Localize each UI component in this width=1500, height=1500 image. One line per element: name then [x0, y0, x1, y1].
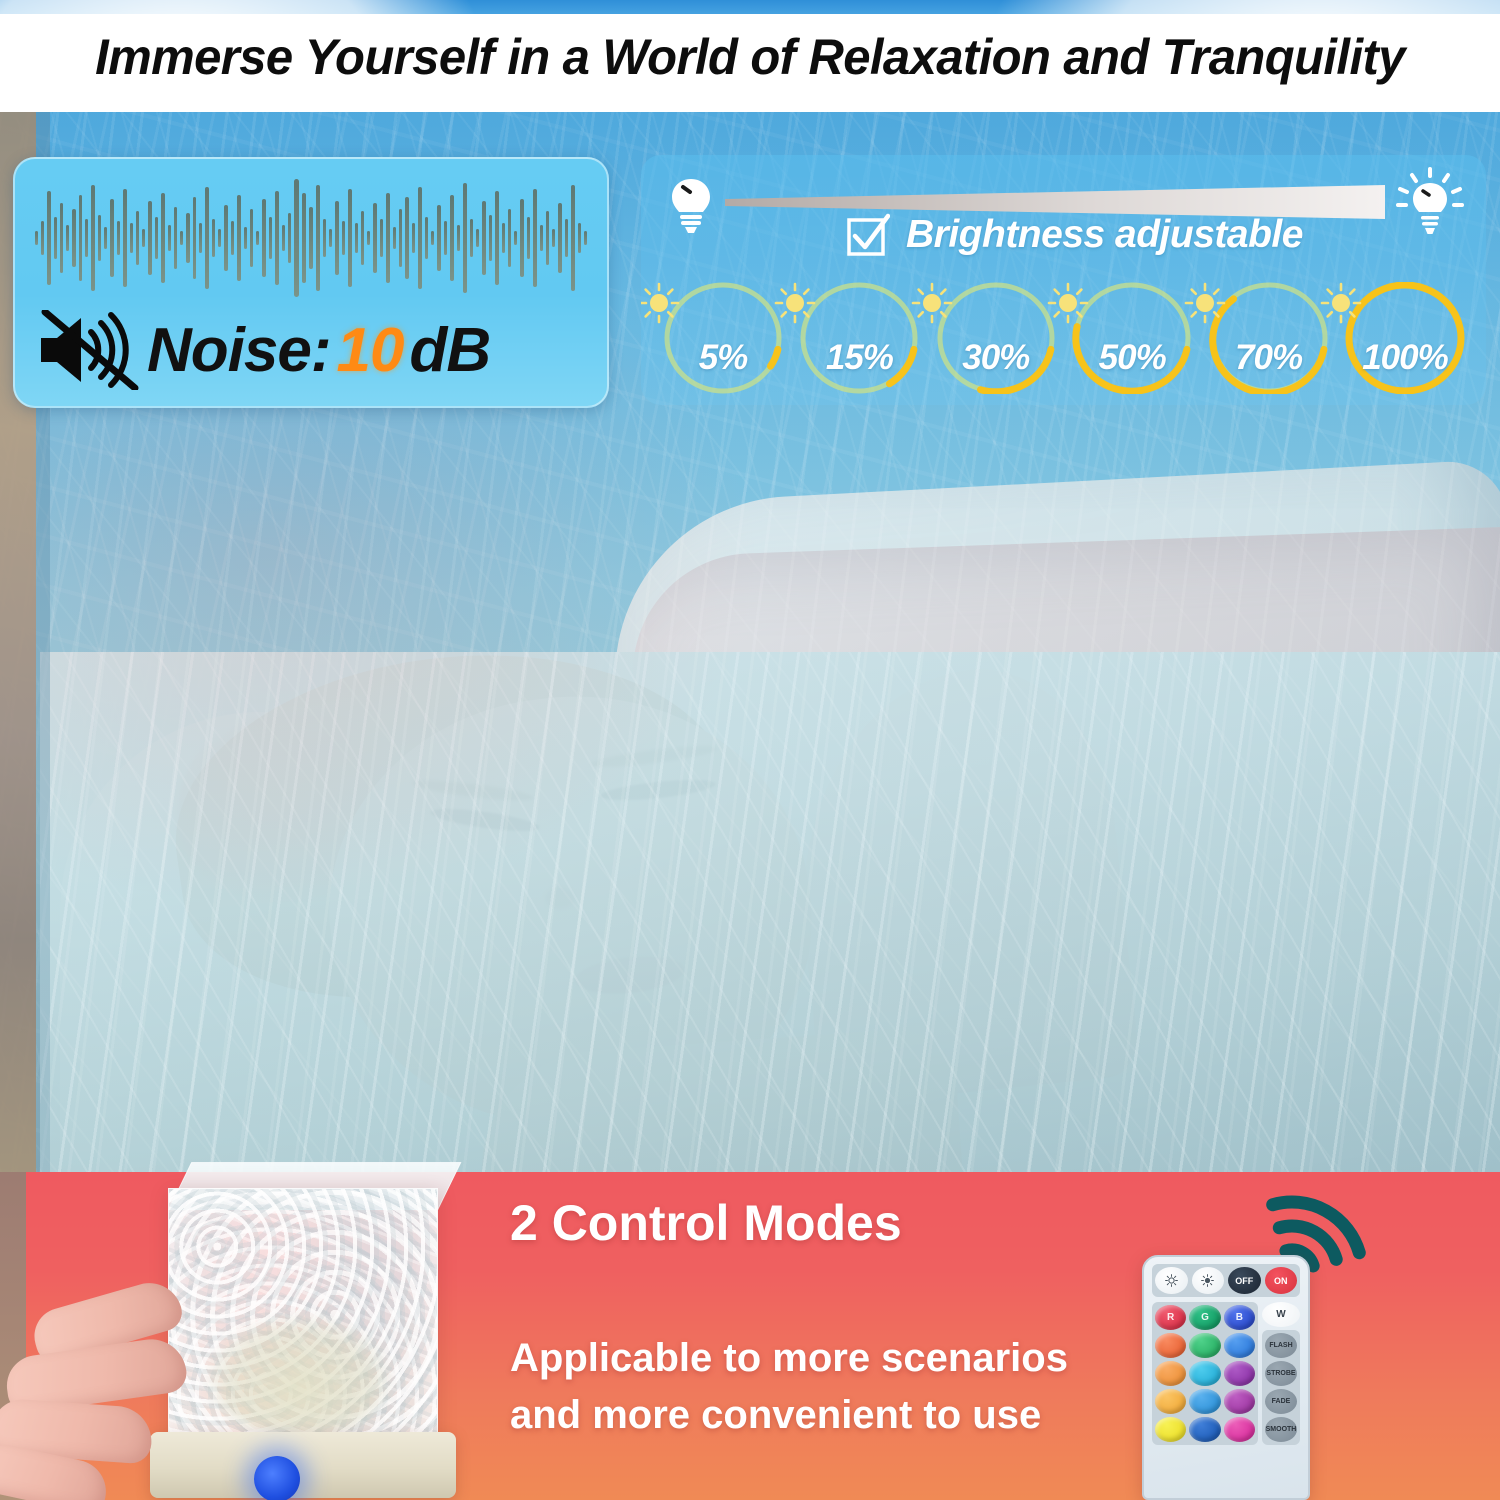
- noise-label: Noise:: [147, 316, 330, 385]
- color-button-purple-2[interactable]: [1224, 1389, 1255, 1414]
- brightness-level-label: 15%: [795, 338, 923, 378]
- banner-subtitle-line-1: Applicable to more scenarios: [510, 1330, 1150, 1387]
- light-bulb-on-icon: [1392, 167, 1468, 243]
- color-button-blue-2[interactable]: [1224, 1333, 1255, 1358]
- light-bulb-off-icon: [669, 177, 713, 235]
- flash-button[interactable]: FLASH: [1265, 1333, 1297, 1358]
- header-banner: Immerse Yourself in a World of Relaxatio…: [0, 0, 1500, 118]
- noise-unit: dB: [409, 316, 490, 385]
- brightness-level-item[interactable]: 15%: [795, 282, 923, 394]
- remote-function-column: W FLASH STROBE FADE SMOOTH: [1262, 1302, 1300, 1445]
- brightness-adjustable-row: Brightness adjustable: [846, 213, 1303, 257]
- touch-power-button[interactable]: [254, 1456, 300, 1500]
- speaker-muted-icon: [37, 310, 141, 390]
- banner-title: 2 Control Modes: [510, 1194, 1130, 1252]
- brightness-level-label: 5%: [659, 338, 787, 378]
- rgb-remote-control[interactable]: OFF ON R G B W: [1142, 1255, 1310, 1500]
- color-button-green-2[interactable]: [1189, 1333, 1220, 1358]
- sun-icon: [1184, 282, 1226, 324]
- brightness-up-button[interactable]: [1155, 1267, 1188, 1294]
- power-off-button[interactable]: OFF: [1228, 1267, 1261, 1294]
- color-button-orangered[interactable]: [1155, 1333, 1186, 1358]
- sun-icon: [641, 282, 680, 324]
- sun-icon: [1047, 282, 1089, 324]
- color-button-orange[interactable]: [1155, 1361, 1186, 1386]
- fade-button[interactable]: FADE: [1265, 1389, 1297, 1414]
- brightness-level-label: 50%: [1068, 338, 1196, 378]
- brightness-level-item[interactable]: 30%: [932, 282, 1060, 394]
- audio-waveform-icon: [33, 173, 589, 303]
- brightness-level-item[interactable]: 100%: [1341, 282, 1469, 394]
- checkbox-checked-icon[interactable]: [846, 213, 890, 257]
- hand-touching-lamp: [0, 1295, 222, 1500]
- noise-value: 10: [336, 316, 403, 385]
- sun-icon: [911, 282, 953, 324]
- strobe-button[interactable]: STROBE: [1265, 1361, 1297, 1386]
- brightness-level-label: 70%: [1205, 338, 1333, 378]
- brightness-level-item[interactable]: 50%: [1068, 282, 1196, 394]
- brightness-level-label: 100%: [1341, 338, 1469, 378]
- color-button-blue-3[interactable]: [1189, 1389, 1220, 1414]
- sun-icon: [1320, 282, 1362, 324]
- brightness-level-label: 30%: [932, 338, 1060, 378]
- remote-effect-buttons: FLASH STROBE FADE SMOOTH: [1262, 1330, 1300, 1445]
- page-title: Immerse Yourself in a World of Relaxatio…: [15, 28, 1485, 86]
- color-button-red[interactable]: R: [1155, 1305, 1186, 1330]
- brightness-down-icon: [1200, 1273, 1215, 1288]
- sun-icon: [774, 282, 816, 324]
- noise-level-panel: Noise:10dB: [13, 157, 609, 408]
- color-button-magenta[interactable]: [1224, 1417, 1255, 1442]
- color-button-yellow[interactable]: [1155, 1417, 1186, 1442]
- remote-top-row: OFF ON: [1152, 1264, 1300, 1297]
- color-button-blue[interactable]: B: [1224, 1305, 1255, 1330]
- banner-subtitle-line-2: and more convenient to use: [510, 1387, 1150, 1444]
- brightness-up-icon: [1164, 1273, 1179, 1288]
- power-on-button[interactable]: ON: [1265, 1267, 1298, 1294]
- banner-subtitle: Applicable to more scenarios and more co…: [510, 1330, 1150, 1444]
- brightness-down-button[interactable]: [1192, 1267, 1225, 1294]
- noise-readout: Noise:10dB: [147, 315, 490, 386]
- brightness-level-item[interactable]: 70%: [1205, 282, 1333, 394]
- brightness-level-rings: 5% 15%: [659, 279, 1469, 397]
- remote-color-buttons: R G B: [1152, 1302, 1258, 1445]
- color-button-amber[interactable]: [1155, 1389, 1186, 1414]
- lamp-inner-glow: [209, 1317, 389, 1437]
- remote-main-grid: R G B W FLASH STROBE: [1152, 1302, 1300, 1445]
- color-button-purple[interactable]: [1224, 1361, 1255, 1386]
- product-feature-image: Immerse Yourself in a World of Relaxatio…: [0, 0, 1500, 1500]
- brightness-level-item[interactable]: 5%: [659, 282, 787, 394]
- color-button-green[interactable]: G: [1189, 1305, 1220, 1330]
- color-button-white[interactable]: W: [1262, 1302, 1300, 1327]
- smooth-button[interactable]: SMOOTH: [1265, 1417, 1297, 1442]
- brightness-adjustable-label: Brightness adjustable: [906, 213, 1303, 257]
- noise-readout-row: Noise:10dB: [37, 307, 597, 393]
- color-button-blue-4[interactable]: [1189, 1417, 1220, 1442]
- color-button-cyan[interactable]: [1189, 1361, 1220, 1386]
- brightness-panel: Brightness adjustable 5%: [641, 155, 1486, 405]
